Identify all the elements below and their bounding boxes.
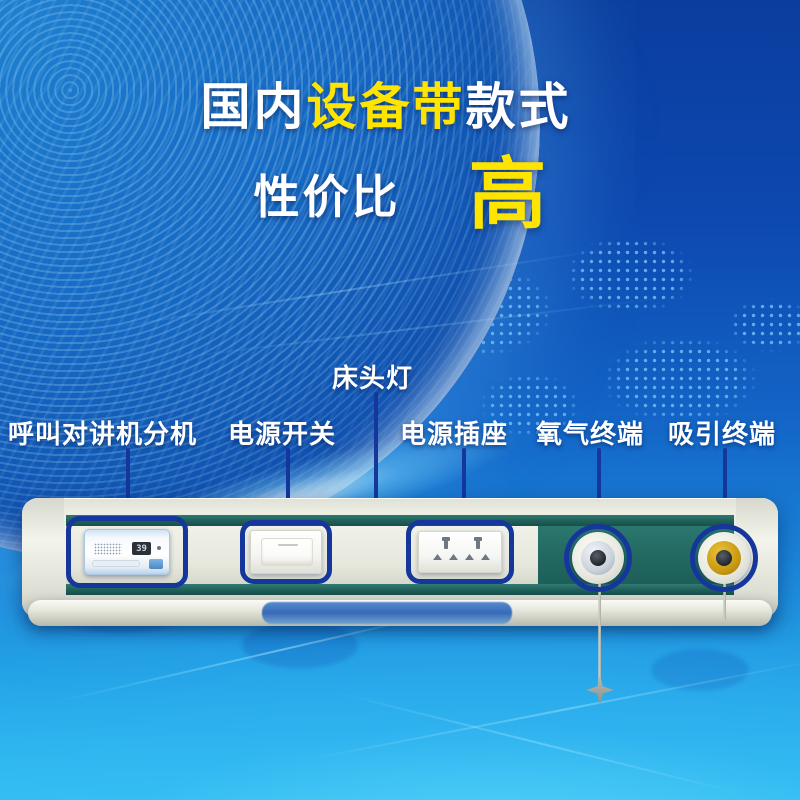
highlight-box-intercom xyxy=(66,516,188,588)
callout-label-suction-terminal: 吸引终端 xyxy=(668,414,776,451)
highlight-box-power-socket xyxy=(406,520,514,584)
callout-label-power-switch: 电源开关 xyxy=(228,414,336,451)
callout-label-power-socket: 电源插座 xyxy=(400,414,508,451)
callout-label-bed-lamp: 床头灯 xyxy=(332,358,413,395)
highlight-box-power-switch xyxy=(240,520,332,584)
highlight-ring-oxygen-terminal xyxy=(564,524,632,592)
rail-reflection xyxy=(262,602,512,624)
callout-label-intercom: 呼叫对讲机分机 xyxy=(8,414,197,451)
callout-layer: 呼叫对讲机分机 电源开关 床头灯 电源插座 氧气终端 吸引终端 xyxy=(0,0,800,800)
callout-label-oxygen-terminal: 氧气终端 xyxy=(536,414,644,451)
pull-cord[interactable] xyxy=(598,620,601,682)
highlight-ring-suction-terminal xyxy=(690,524,758,592)
promo-banner: 国内设备带款式 性价比 高 呼叫对讲机分机 电源开关 床头灯 电源插座 氧气终端… xyxy=(0,0,800,800)
